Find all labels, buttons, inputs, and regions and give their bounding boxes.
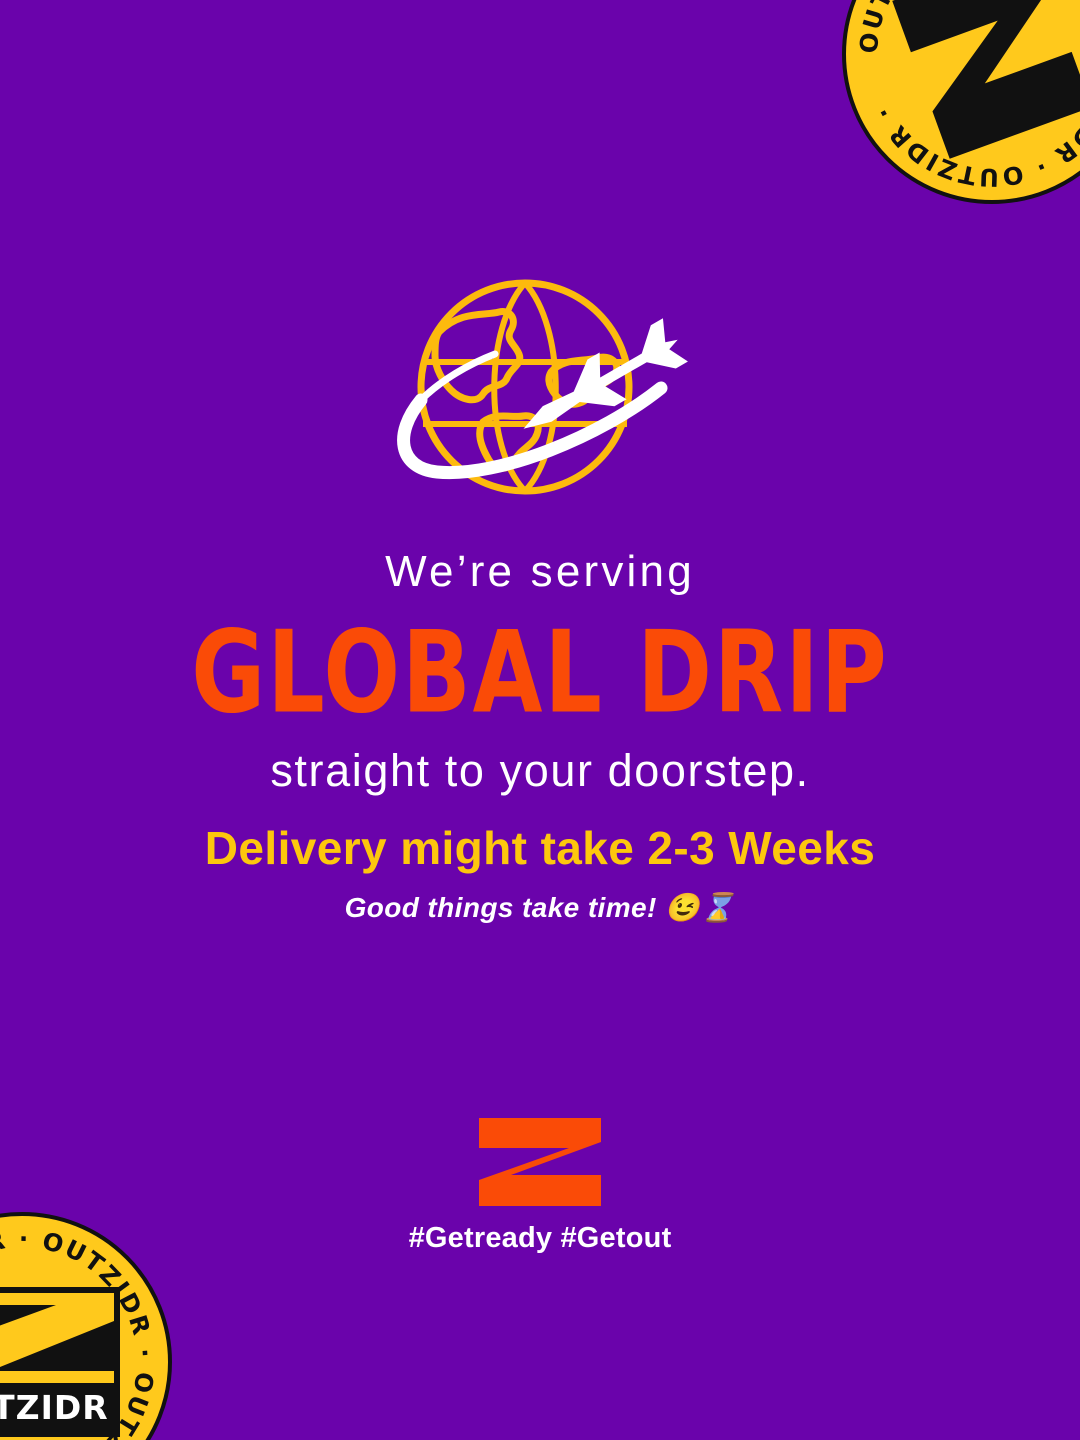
footer-block: #Getready #Getout xyxy=(0,1118,1080,1255)
badge-core-bottom-left: OUTZIDR xyxy=(0,1287,120,1437)
badge-wordmark-bottom-left: OUTZIDR xyxy=(0,1388,109,1427)
delivery-estimate-text: Delivery might take 2-3 Weeks xyxy=(0,822,1080,875)
outzidr-z-logo xyxy=(479,1118,601,1206)
hashtags-text: #Getready #Getout xyxy=(0,1222,1080,1255)
headline-tail: straight to your doorstep. xyxy=(0,746,1080,796)
promo-poster: OUTZIDR · OUTZIDR · OUTZIDR · OUTZIDR · … xyxy=(0,0,1080,1440)
headline-block: We’re serving GLOBAL DRIP straight to yo… xyxy=(0,548,1080,795)
delivery-note-block: Delivery might take 2-3 Weeks Good thing… xyxy=(0,822,1080,924)
badge-monogram-top-right xyxy=(887,0,1080,159)
hero-icon-container xyxy=(0,272,1080,502)
headline-main: GLOBAL DRIP xyxy=(32,610,1047,737)
continent-left-icon xyxy=(435,311,520,399)
headline-kicker: We’re serving xyxy=(0,548,1080,596)
delivery-subtext: Good things take time! 😉⌛ xyxy=(0,891,1080,924)
globe-airplane-icon xyxy=(365,272,715,502)
brand-badge-top-right: OUTZIDR · OUTZIDR · OUTZIDR · OUTZIDR · xyxy=(842,0,1080,204)
